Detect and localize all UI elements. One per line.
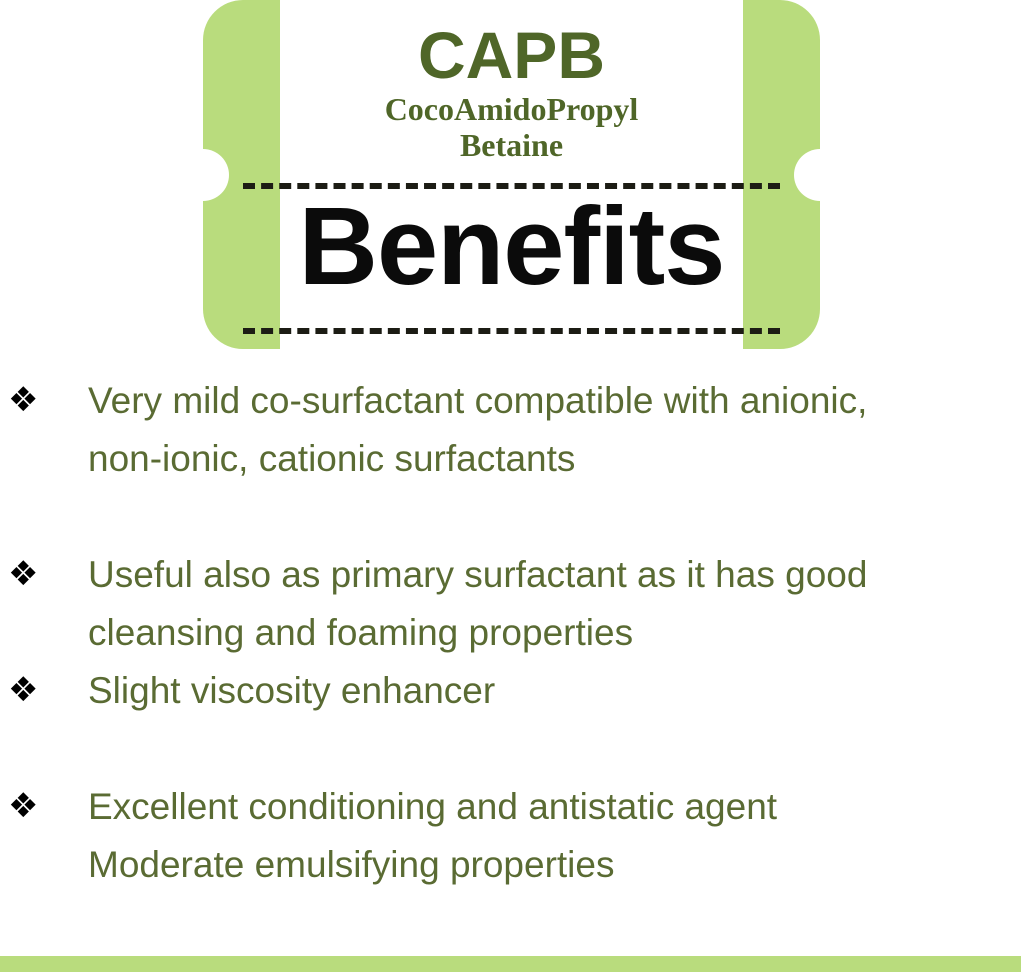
list-item-text: Slight viscosity enhancer	[88, 662, 1021, 720]
product-full-name-line-2: Betaine	[280, 128, 743, 164]
bottom-accent-bar	[0, 956, 1021, 972]
diamond-bullet-icon: ❖	[0, 778, 88, 834]
list-item-line: Very mild co-surfactant compatible with …	[88, 372, 1011, 430]
list-item-line: Excellent conditioning and antistatic ag…	[88, 778, 1011, 836]
product-full-name: CocoAmidoPropyl Betaine	[280, 92, 743, 164]
ticket-banner: CAPB CocoAmidoPropyl Betaine Benefits	[203, 0, 820, 349]
list-spacer	[0, 720, 1021, 778]
list-item-line: cleansing and foaming properties	[88, 604, 1011, 662]
list-item-line: Moderate emulsifying properties	[88, 836, 1011, 894]
list-item-line: Slight viscosity enhancer	[88, 662, 1011, 720]
section-heading-benefits: Benefits	[203, 192, 820, 302]
list-item-text: Very mild co-surfactant compatible with …	[88, 372, 1021, 488]
dashed-divider-bottom	[243, 328, 780, 334]
list-item-line: non-ionic, cationic surfactants	[88, 430, 1011, 488]
benefits-list: ❖ Very mild co-surfactant compatible wit…	[0, 372, 1021, 894]
list-item-text: Excellent conditioning and antistatic ag…	[88, 778, 1021, 894]
list-spacer	[0, 488, 1021, 546]
list-item: ❖ Very mild co-surfactant compatible wit…	[0, 372, 1021, 488]
list-item: ❖ Useful also as primary surfactant as i…	[0, 546, 1021, 662]
list-item: ❖ Excellent conditioning and antistatic …	[0, 778, 1021, 894]
diamond-bullet-icon: ❖	[0, 662, 88, 718]
list-item: ❖ Slight viscosity enhancer	[0, 662, 1021, 720]
diamond-bullet-icon: ❖	[0, 372, 88, 428]
ticket-heading-block: CAPB CocoAmidoPropyl Betaine	[280, 0, 743, 164]
diamond-bullet-icon: ❖	[0, 546, 88, 602]
list-item-text: Useful also as primary surfactant as it …	[88, 546, 1021, 662]
list-item-line: Useful also as primary surfactant as it …	[88, 546, 1011, 604]
product-full-name-line-1: CocoAmidoPropyl	[280, 92, 743, 128]
product-acronym: CAPB	[280, 22, 743, 88]
